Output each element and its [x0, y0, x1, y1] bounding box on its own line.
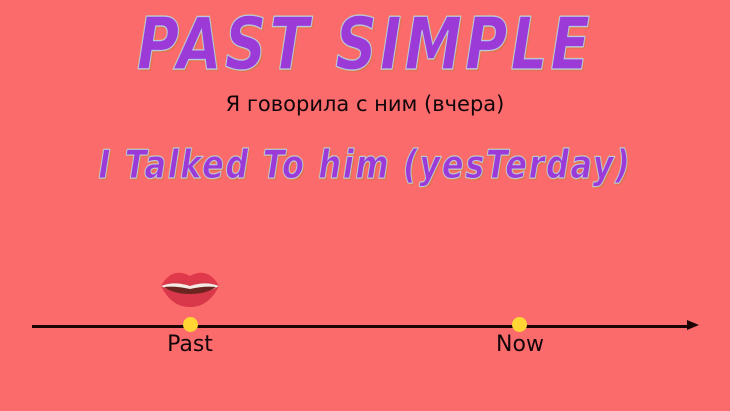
- russian-sentence: Я говорила с ним (вчера): [0, 92, 730, 116]
- timeline-label-past: Past: [130, 332, 250, 357]
- arrow-right-icon: [687, 320, 699, 330]
- past-simple-slide: PAST SIMPLE Я говорила с ним (вчера) I T…: [0, 0, 730, 411]
- timeline-label-now: Now: [460, 332, 580, 357]
- timeline-marker-past: [183, 317, 198, 332]
- lips-icon: [159, 268, 221, 308]
- timeline-axis: [32, 324, 700, 330]
- timeline-marker-now: [512, 317, 527, 332]
- page-title: PAST SIMPLE: [137, 4, 593, 84]
- timeline-line: [32, 325, 690, 328]
- english-sentence: I Talked To him (yesTerday): [99, 144, 632, 188]
